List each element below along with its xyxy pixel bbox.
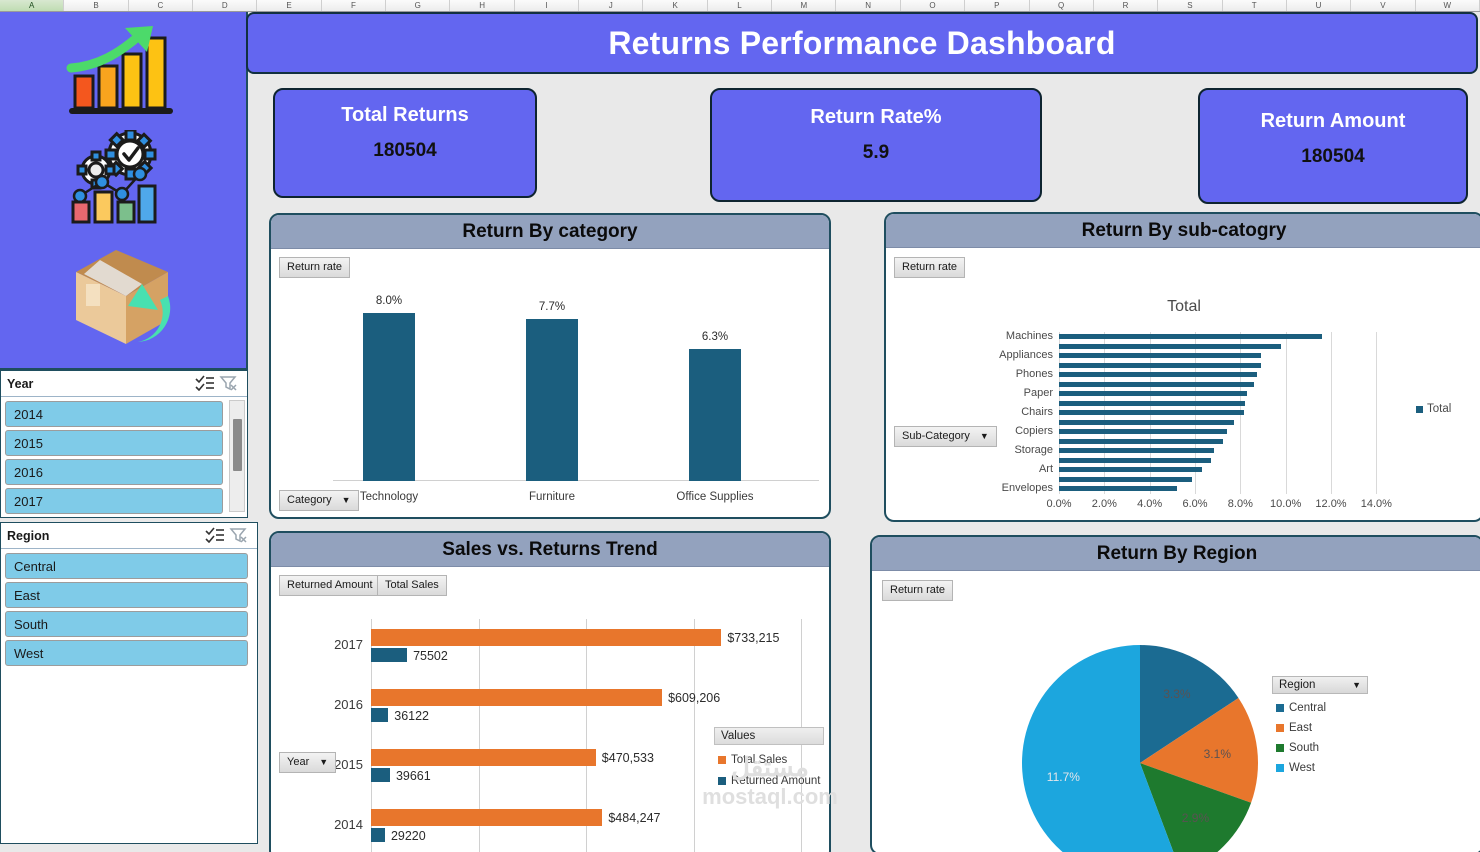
slicer-item-year-2015[interactable]: 2015 <box>5 430 223 456</box>
x-axis-tick-label: 12.0% <box>1315 498 1346 510</box>
column-header-q[interactable]: Q <box>1030 0 1094 11</box>
year-axis-label: 2017 <box>317 637 363 652</box>
gridline <box>694 619 695 852</box>
chart-return-by-category: Return rate 8.0%Technology7.7%Furniture6… <box>271 249 829 517</box>
x-axis-tick-label: 0.0% <box>1046 498 1071 510</box>
page-title: Returns Performance Dashboard <box>246 12 1478 74</box>
column-header-l[interactable]: L <box>708 0 772 11</box>
total-sales-bar <box>371 689 662 706</box>
pie-percent-label: 3.1% <box>1204 747 1231 761</box>
kpi-label: Total Returns <box>341 104 468 127</box>
column-chart-plot: 8.0%Technology7.7%Furniture6.3%Office Su… <box>271 249 829 517</box>
total-sales-value-label: $733,215 <box>727 631 779 645</box>
column-header-h[interactable]: H <box>450 0 514 11</box>
sub-category-bar <box>1059 353 1261 358</box>
panel-title-return-by-category: Return By category <box>271 215 829 249</box>
column-header-n[interactable]: N <box>836 0 900 11</box>
pie-svg <box>872 571 1480 852</box>
bar-furniture <box>526 319 578 481</box>
legend-swatch <box>1276 744 1284 752</box>
horizontal-bar-plot: 0.0%2.0%4.0%6.0%8.0%10.0%12.0%14.0%Machi… <box>1059 332 1399 494</box>
returned-amount-bar <box>371 828 385 842</box>
scrollbar-thumb[interactable] <box>233 419 242 471</box>
legend-item-central: Central <box>1272 702 1368 714</box>
bar-technology <box>363 313 415 481</box>
slicer-region-title: Region <box>7 529 203 543</box>
kpi-label: Return Rate% <box>810 106 941 129</box>
chevron-down-icon: ▼ <box>980 431 989 441</box>
column-header-m[interactable]: M <box>772 0 836 11</box>
panel-title-return-by-region: Return By Region <box>872 537 1480 571</box>
value-field-button-returned-amount[interactable]: Returned Amount <box>279 575 381 596</box>
multi-select-icon[interactable] <box>205 527 227 545</box>
sub-category-bar <box>1059 391 1247 396</box>
legend-label: East <box>1289 722 1312 734</box>
field-button-region[interactable]: Region ▼ <box>1272 676 1368 694</box>
pie-plot: 3.3%3.1%2.9%11.7% <box>872 571 1480 852</box>
sub-category-bar <box>1059 439 1223 444</box>
chart-legend-total: Total <box>1416 403 1451 415</box>
sub-category-bar <box>1059 372 1257 377</box>
sub-category-bar <box>1059 363 1261 368</box>
slicer-region-body: CentralEastSouthWest <box>1 549 257 673</box>
kpi-card-return-amount: Return Amount 180504 <box>1198 88 1468 204</box>
returned-amount-value-label: 75502 <box>413 649 448 663</box>
value-field-button-total-sales[interactable]: Total Sales <box>377 575 447 596</box>
slicer-year-title: Year <box>7 377 193 391</box>
gridline <box>1331 332 1332 494</box>
legend-title: Values <box>714 727 824 745</box>
x-axis-tick-label: 2.0% <box>1092 498 1117 510</box>
legend-swatch <box>718 777 726 785</box>
x-axis-tick-label: 4.0% <box>1137 498 1162 510</box>
returned-amount-value-label: 29220 <box>391 829 426 843</box>
multi-select-icon[interactable] <box>195 375 217 393</box>
legend-label: West <box>1289 762 1315 774</box>
x-axis-tick-label: 10.0% <box>1270 498 1301 510</box>
slicer-item-year-2016[interactable]: 2016 <box>5 459 223 485</box>
chart-sales-vs-returns-trend: Returned Amount Total Sales 2017$733,215… <box>271 567 829 852</box>
column-header-t[interactable]: T <box>1223 0 1287 11</box>
total-sales-value-label: $609,206 <box>668 691 720 705</box>
chart-inner-title: Total <box>886 298 1480 316</box>
chart-return-by-region: Return rate 3.3%3.1%2.9%11.7% Region ▼ C… <box>872 571 1480 852</box>
column-header-d[interactable]: D <box>193 0 257 11</box>
legend-label: South <box>1289 742 1319 754</box>
legend-label: Total Sales <box>731 754 787 766</box>
x-axis-tick-label: 6.0% <box>1182 498 1207 510</box>
total-sales-bar <box>371 809 602 826</box>
legend-swatch <box>718 756 726 764</box>
sub-category-bar <box>1059 448 1214 453</box>
returned-amount-value-label: 36122 <box>394 709 429 723</box>
total-sales-value-label: $484,247 <box>608 811 660 825</box>
slicer-year[interactable]: Year 2014201520162017 <box>0 370 248 518</box>
sub-category-axis-label: Art <box>943 464 1053 474</box>
column-header-w[interactable]: W <box>1416 0 1480 11</box>
legend-swatch <box>1276 704 1284 712</box>
kpi-value: 5.9 <box>863 142 889 164</box>
pie-percent-label: 11.7% <box>1047 770 1080 784</box>
total-sales-bar <box>371 749 596 766</box>
sub-category-bar <box>1059 382 1254 387</box>
chart-legend-values: Values Total Sales Returned Amount <box>714 727 824 787</box>
panel-return-by-region: Return By Region Return rate 3.3%3.1%2.9… <box>870 535 1480 852</box>
column-header-o[interactable]: O <box>901 0 965 11</box>
slicer-year-body: 2014201520162017 <box>1 397 247 521</box>
sub-category-bar <box>1059 334 1322 339</box>
slicer-year-scrollbar[interactable] <box>229 400 245 512</box>
column-header-u[interactable]: U <box>1287 0 1351 11</box>
year-axis-label: 2014 <box>317 817 363 832</box>
sub-category-bar <box>1059 410 1244 415</box>
panel-title-return-by-sub-category: Return By sub-catogry <box>886 214 1480 248</box>
x-axis-tick-label: 14.0% <box>1361 498 1392 510</box>
dashboard-root: ABCDEFGHIJKLMNOPQRSTUVW <box>0 0 1480 852</box>
chart-return-by-sub-category: Return rate Total 0.0%2.0%4.0%6.0%8.0%10… <box>886 248 1480 520</box>
column-header-i[interactable]: I <box>515 0 579 11</box>
column-header-g[interactable]: G <box>386 0 450 11</box>
chevron-down-icon: ▼ <box>342 495 351 505</box>
legend-item-total-sales: Total Sales <box>714 754 824 766</box>
legend-label: Returned Amount <box>731 775 821 787</box>
bar-office-supplies <box>689 349 741 481</box>
total-sales-bar <box>371 629 721 646</box>
column-header-v[interactable]: V <box>1351 0 1415 11</box>
legend-item-west: West <box>1272 762 1368 774</box>
chevron-down-icon: ▼ <box>1352 680 1361 690</box>
kpi-value: 180504 <box>373 140 436 162</box>
spreadsheet-column-headers: ABCDEFGHIJKLMNOPQRSTUVW <box>0 0 1480 12</box>
sub-category-bar <box>1059 477 1192 482</box>
slicer-year-header: Year <box>1 371 247 397</box>
sub-category-axis-label: Chairs <box>943 407 1053 417</box>
sub-category-axis-label: Phones <box>943 369 1053 379</box>
growth-bar-chart-arrow-icon <box>63 24 183 120</box>
legend-swatch <box>1416 406 1423 413</box>
panel-return-by-category: Return By category Return rate 8.0%Techn… <box>269 213 831 519</box>
returned-amount-bar <box>371 768 390 782</box>
returned-amount-value-label: 39661 <box>396 769 431 783</box>
sub-category-axis-label: Paper <box>943 388 1053 398</box>
sub-category-bar <box>1059 486 1177 491</box>
slicer-region-header: Region <box>1 523 257 549</box>
kpi-value: 180504 <box>1301 146 1364 168</box>
sidebar-banner <box>0 12 248 370</box>
field-button-sub-category[interactable]: Sub-Category▼ <box>894 426 997 447</box>
sub-category-bar <box>1059 344 1281 349</box>
field-button-category[interactable]: Category▼ <box>279 490 359 511</box>
slicer-region[interactable]: Region CentralEastSouthWest <box>0 522 258 844</box>
chevron-down-icon: ▼ <box>319 757 328 767</box>
panel-return-by-sub-category: Return By sub-catogry Return rate Total … <box>884 212 1480 522</box>
pie-percent-label: 2.9% <box>1182 811 1209 825</box>
chart-legend-region: Region ▼ CentralEastSouthWest <box>1272 676 1368 774</box>
slicer-item-region-east[interactable]: East <box>5 582 248 608</box>
gridline <box>1376 332 1377 494</box>
clear-filter-icon[interactable] <box>219 375 241 393</box>
return-package-box-icon <box>64 240 182 352</box>
legend-swatch <box>1276 724 1284 732</box>
slicer-item-year-2017[interactable]: 2017 <box>5 488 223 514</box>
sub-category-bar <box>1059 401 1245 406</box>
column-header-a[interactable]: A <box>0 0 64 11</box>
panel-sales-vs-returns-trend: Sales vs. Returns Trend Returned Amount … <box>269 531 831 852</box>
sub-category-bar <box>1059 467 1202 472</box>
kpi-card-return-rate: Return Rate% 5.9 <box>710 88 1042 202</box>
legend-label: Total <box>1427 403 1451 415</box>
sub-category-axis-label: Appliances <box>943 350 1053 360</box>
field-button-year[interactable]: Year▼ <box>279 752 336 773</box>
bar-value-label: 7.7% <box>492 301 612 313</box>
sub-category-bar <box>1059 458 1211 463</box>
sub-category-bar <box>1059 420 1234 425</box>
slicer-item-region-central[interactable]: Central <box>5 553 248 579</box>
column-header-s[interactable]: S <box>1158 0 1222 11</box>
legend-item-south: South <box>1272 742 1368 754</box>
slicer-item-region-south[interactable]: South <box>5 611 248 637</box>
kpi-label: Return Amount <box>1261 110 1406 133</box>
bar-value-label: 8.0% <box>329 295 449 307</box>
column-header-k[interactable]: K <box>643 0 707 11</box>
legend-item-returned-amount: Returned Amount <box>714 775 824 787</box>
column-header-r[interactable]: R <box>1094 0 1158 11</box>
returned-amount-bar <box>371 708 388 722</box>
legend-label: Central <box>1289 702 1326 714</box>
column-header-c[interactable]: C <box>129 0 193 11</box>
legend-item-east: East <box>1272 722 1368 734</box>
column-header-f[interactable]: F <box>322 0 386 11</box>
year-axis-label: 2016 <box>317 697 363 712</box>
x-axis-tick-label: 8.0% <box>1228 498 1253 510</box>
returned-amount-bar <box>371 648 407 662</box>
bar-value-label: 6.3% <box>655 331 775 343</box>
panel-title-sales-vs-returns-trend: Sales vs. Returns Trend <box>271 533 829 567</box>
sub-category-bar <box>1059 429 1227 434</box>
value-field-button-return-rate[interactable]: Return rate <box>894 257 965 278</box>
gridline <box>1286 332 1287 494</box>
column-header-e[interactable]: E <box>257 0 321 11</box>
gears-analytics-icon <box>68 130 178 230</box>
column-header-b[interactable]: B <box>64 0 128 11</box>
legend-swatch <box>1276 764 1284 772</box>
category-axis-label: Office Supplies <box>655 491 775 503</box>
sub-category-axis-label: Machines <box>943 331 1053 341</box>
kpi-card-total-returns: Total Returns 180504 <box>273 88 537 198</box>
slicer-item-year-2014[interactable]: 2014 <box>5 401 223 427</box>
column-header-p[interactable]: P <box>965 0 1029 11</box>
total-sales-value-label: $470,533 <box>602 751 654 765</box>
category-axis-label: Furniture <box>492 491 612 503</box>
column-header-j[interactable]: J <box>579 0 643 11</box>
sub-category-axis-label: Envelopes <box>943 483 1053 493</box>
pie-percent-label: 3.3% <box>1163 687 1190 701</box>
slicer-item-region-west[interactable]: West <box>5 640 248 666</box>
clear-filter-icon[interactable] <box>229 527 251 545</box>
